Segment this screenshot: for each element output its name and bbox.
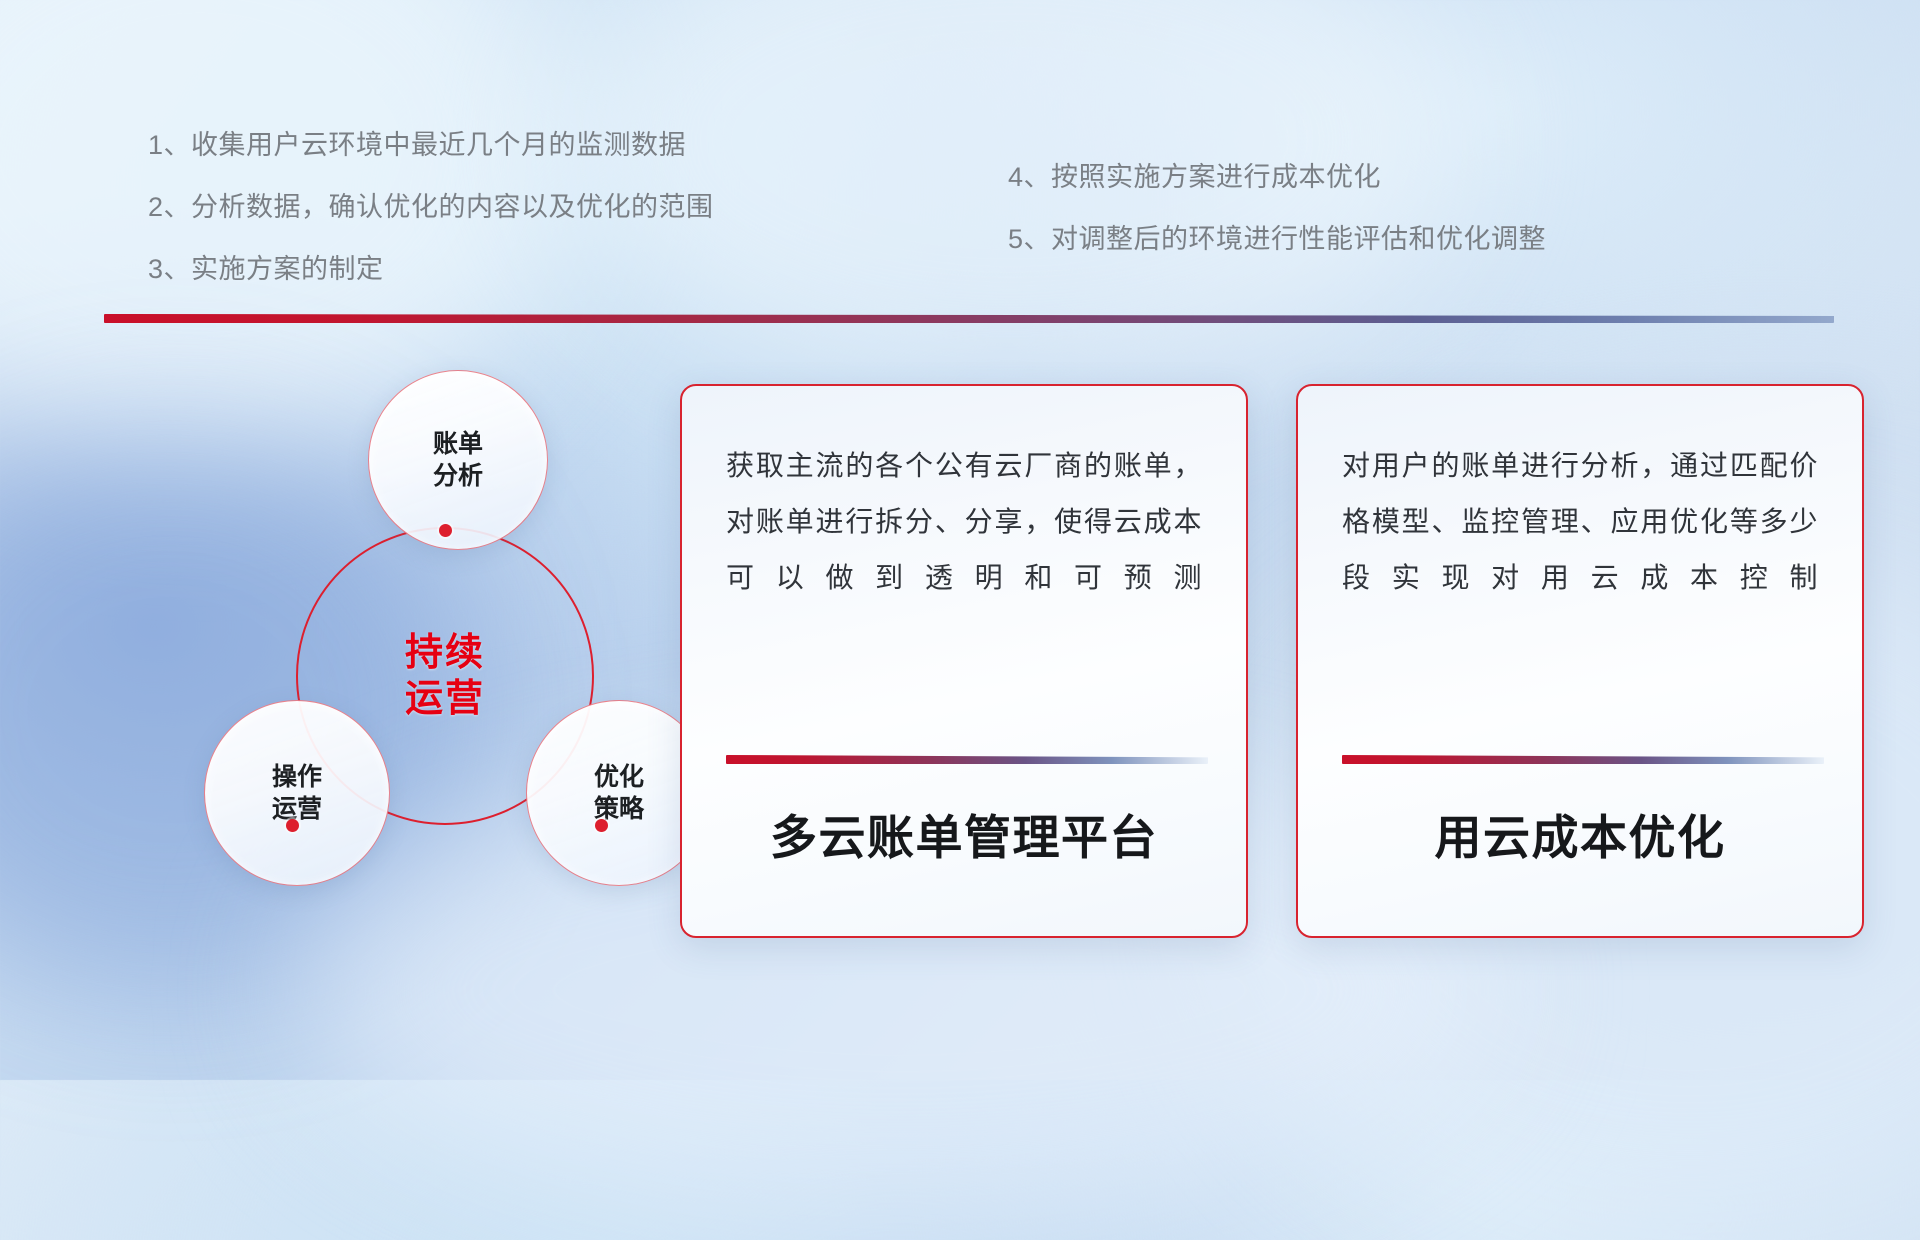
- steps-list-right: 4、按照实施方案进行成本优化 5、对调整后的环境进行性能评估和优化调整: [1008, 164, 1546, 253]
- step-item-5: 5、对调整后的环境进行性能评估和优化调整: [1008, 226, 1546, 253]
- card-divider: [726, 755, 1208, 764]
- bubble-label-line1: 操作: [272, 761, 322, 793]
- card-body-text: 获取主流的各个公有云厂商的账单，对账单进行拆分、分享，使得云成本可以做到透明和可…: [726, 438, 1202, 606]
- diagram-bubble-operations[interactable]: 操作 运营: [204, 700, 390, 886]
- bubble-label-line1: 账单: [433, 428, 483, 460]
- diagram-node-dot-left: [286, 819, 299, 832]
- diagram-node-dot-top: [439, 524, 452, 537]
- section-divider: [104, 314, 1834, 323]
- bubble-label-line2: 分析: [433, 460, 483, 492]
- center-label-line1: 持续: [405, 630, 485, 676]
- feature-card-multicloud-billing[interactable]: 获取主流的各个公有云厂商的账单，对账单进行拆分、分享，使得云成本可以做到透明和可…: [680, 384, 1248, 938]
- continuous-operations-diagram: 持续 运营 账单 分析 操作 运营 优化 策略: [96, 352, 626, 942]
- center-label-line2: 运营: [405, 676, 485, 722]
- step-item-3: 3、实施方案的制定: [148, 256, 714, 283]
- card-body-text: 对用户的账单进行分析，通过匹配价格模型、监控管理、应用优化等多少段实现对用云成本…: [1342, 438, 1818, 606]
- card-divider: [1342, 755, 1824, 764]
- bubble-label-line1: 优化: [594, 761, 644, 793]
- steps-list-left: 1、收集用户云环境中最近几个月的监测数据 2、分析数据，确认优化的内容以及优化的…: [148, 132, 714, 283]
- diagram-node-dot-right: [595, 819, 608, 832]
- step-item-2: 2、分析数据，确认优化的内容以及优化的范围: [148, 194, 714, 221]
- slide-canvas: 1、收集用户云环境中最近几个月的监测数据 2、分析数据，确认优化的内容以及优化的…: [0, 0, 1920, 1080]
- card-title: 用云成本优化: [1298, 799, 1862, 868]
- step-item-1: 1、收集用户云环境中最近几个月的监测数据: [148, 132, 714, 159]
- step-item-4: 4、按照实施方案进行成本优化: [1008, 164, 1546, 191]
- diagram-bubble-bill-analysis[interactable]: 账单 分析: [368, 370, 548, 550]
- card-title: 多云账单管理平台: [682, 799, 1246, 868]
- feature-card-cloud-cost-optimization[interactable]: 对用户的账单进行分析，通过匹配价格模型、监控管理、应用优化等多少段实现对用云成本…: [1296, 384, 1864, 938]
